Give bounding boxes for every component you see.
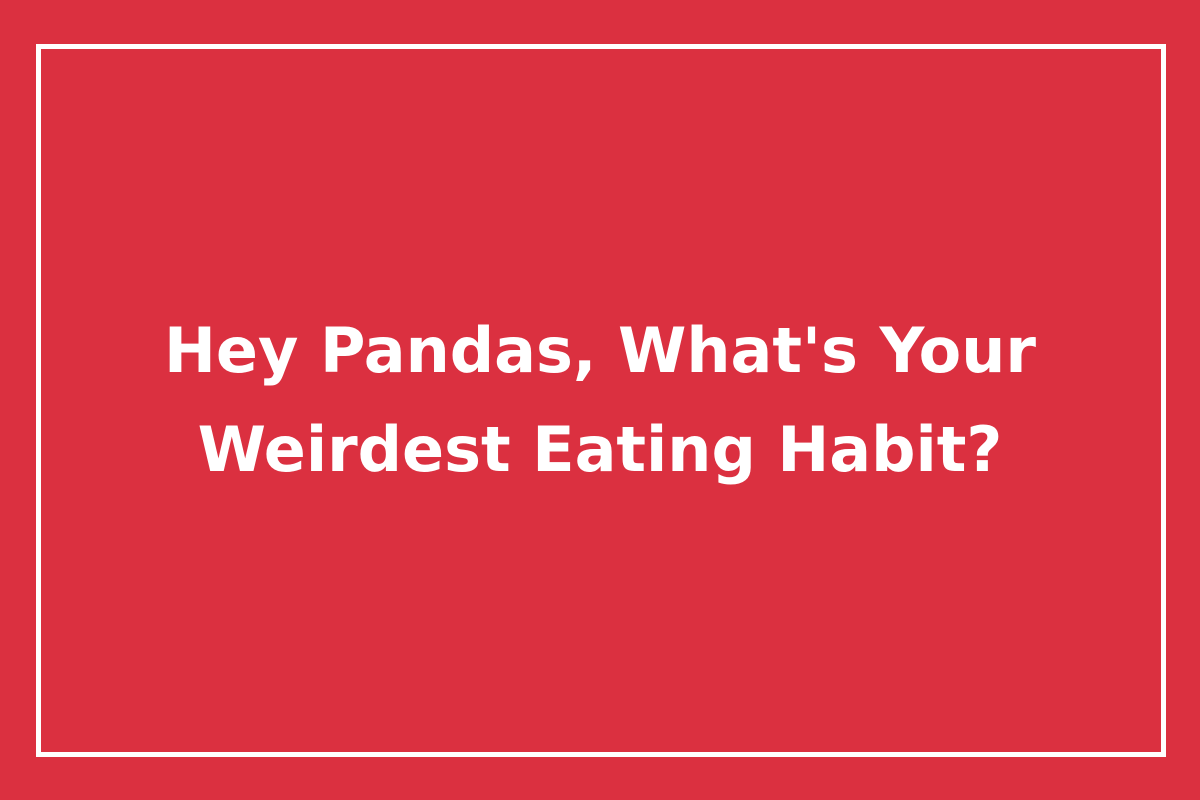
page-title-line-1: Hey Pandas, What's Your <box>164 301 1036 400</box>
title-card: Hey Pandas, What's Your Weirdest Eating … <box>0 0 1200 800</box>
page-title-line-2: Weirdest Eating Habit? <box>198 400 1003 499</box>
page-title: Hey Pandas, What's Your Weirdest Eating … <box>0 0 1200 800</box>
